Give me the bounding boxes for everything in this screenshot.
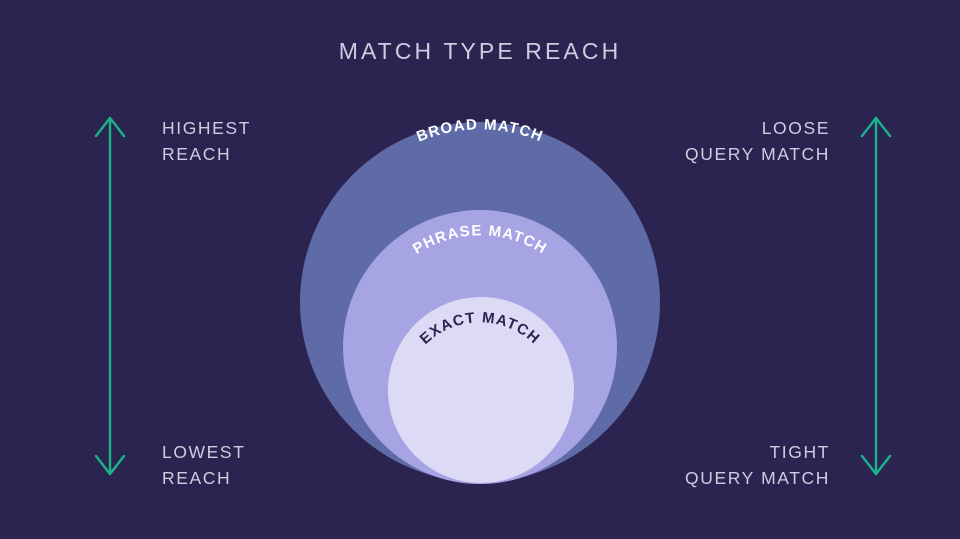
diagram-canvas: MATCH TYPE REACH HIGHEST REACH LOWEST RE…	[0, 0, 960, 539]
match-type-circles	[0, 0, 960, 539]
circle-exact-match[interactable]	[388, 297, 574, 483]
